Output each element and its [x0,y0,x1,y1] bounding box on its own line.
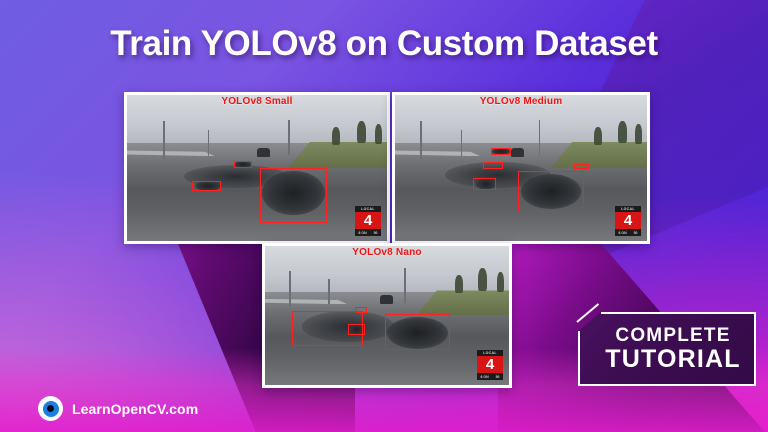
watermark-right-text: 50 [496,375,500,379]
scene-tree [618,121,627,143]
page-title: Train YOLOv8 on Custom Dataset [0,24,768,64]
scene-tree [594,127,602,145]
scene-tree [375,124,382,144]
watermark-left-text: 6 ON [480,375,488,379]
scene-pole [208,130,210,156]
scene-pole [163,121,165,159]
scene-pole [289,271,291,307]
watermark-top-text: LOCAL [483,351,497,355]
bounding-box [385,314,451,350]
scene-tree [332,127,340,145]
complete-tutorial-badge: COMPLETE TUTORIAL [578,312,756,386]
scene-vehicle [380,295,393,304]
bounding-box [473,178,496,190]
bounding-box [260,168,328,223]
detection-image-medium: LOCAL 4 6 ON 50 YOLOv8 Medium [395,95,647,241]
panel-label-small: YOLOv8 Small [127,96,387,107]
badge-text-group: COMPLETE TUTORIAL [578,312,756,386]
bounding-box [491,148,511,155]
watermark-number: 4 [624,213,632,228]
watermark-left-text: 6 ON [618,231,626,235]
watermark-number: 4 [364,213,372,228]
bounding-box [518,171,584,212]
eye-icon [38,396,63,421]
badge-line-2: TUTORIAL [605,346,741,372]
news-channel-watermark: LOCAL 4 6 ON 50 [615,206,641,236]
detection-panel-medium: LOCAL 4 6 ON 50 YOLOv8 Medium [392,92,650,244]
bounding-box [192,181,221,191]
scene-pole [404,268,406,303]
scene-pole [420,121,422,159]
badge-line-1: COMPLETE [615,326,730,346]
scene-pole [328,279,330,304]
bounding-box [234,161,252,168]
detection-panel-small: LOCAL 4 6 ON 50 YOLOv8 Small [124,92,390,244]
scene-pole [461,130,463,156]
scene-pole [288,120,290,155]
panel-label-medium: YOLOv8 Medium [395,96,647,107]
detection-image-nano: LOCAL 4 6 ON 50 YOLOv8 Nano [265,246,509,385]
bounding-box [574,164,589,170]
scene-tree [635,124,642,144]
scene-vehicle [257,148,270,157]
brand-logo[interactable]: LearnOpenCV.com [38,396,198,421]
eye-pupil [47,405,54,412]
bounding-box [483,162,503,169]
watermark-left-text: 6 ON [358,231,366,235]
watermark-right-text: 50 [634,231,638,235]
watermark-top-text: LOCAL [621,207,635,211]
watermark-top-text: LOCAL [361,207,375,211]
detection-image-small: LOCAL 4 6 ON 50 YOLOv8 Small [127,95,387,241]
bounding-box [292,311,363,346]
detection-panel-nano: LOCAL 4 6 ON 50 YOLOv8 Nano [262,243,512,388]
scene-vehicle [511,148,524,157]
scene-tree [478,268,487,291]
watermark-number: 4 [486,357,494,372]
watermark-right-text: 50 [374,231,378,235]
scene-pole [539,120,541,155]
panel-label-nano: YOLOv8 Nano [265,247,509,258]
scene-tree [497,272,504,292]
news-channel-watermark: LOCAL 4 6 ON 50 [355,206,381,236]
scene-tree [455,275,463,293]
eye-iris [43,401,59,417]
news-channel-watermark: LOCAL 4 6 ON 50 [477,350,503,380]
scene-tree [357,121,366,143]
brand-name: LearnOpenCV.com [72,401,198,417]
